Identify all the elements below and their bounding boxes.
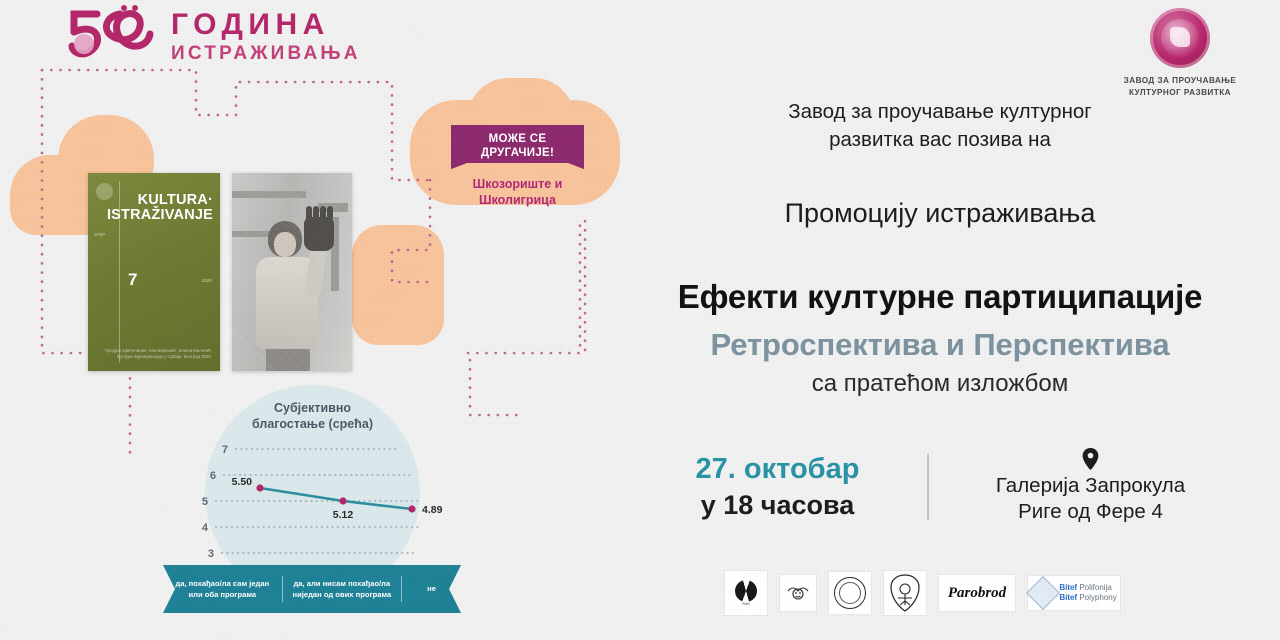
event-title-main: Ефекти културне партиципације xyxy=(600,278,1280,316)
event-datetime: 27. октобар у 18 часова xyxy=(650,453,905,521)
badge-subtitle-line-2: Школигрица xyxy=(450,192,585,208)
circular-seal-icon xyxy=(834,577,866,609)
bitef-diamond-icon xyxy=(1026,576,1060,610)
venue-address: Риге од Фере 4 xyxy=(951,499,1230,525)
infographic-panel: ЗПКР KULTURA· ISTRAŽIVANJE 7 2020 Предра… xyxy=(0,60,620,640)
banner-cell-1: да, похађао/ла сам један или оба програм… xyxy=(163,578,282,601)
book-issue-number: 7 xyxy=(128,270,137,290)
banner-cell-2: да, али нисам похађао/ла ниједан од ових… xyxy=(283,578,402,601)
event-type: Промоцију истраживања xyxy=(600,198,1280,229)
event-poster: ГОДИНА ИСТРАЖИВАЊА ЗАВОД ЗА ПРОУЧАВАЊЕ К… xyxy=(0,0,1280,640)
partner-logo-parobrod: Parobrod xyxy=(938,574,1016,612)
invitation-line-1: Завод за проучавање културног xyxy=(600,98,1280,126)
partner-logo-1: Bitef xyxy=(724,570,768,616)
bitef-line-2-word: Polyphony xyxy=(1079,593,1116,602)
promo-badge: МОЖЕ СЕ ДРУГАЧИЈЕ! Шкозориште и Школигри… xyxy=(450,125,585,209)
swirl-icon xyxy=(735,580,757,602)
badge-subtitle-line-1: Шкозориште и xyxy=(450,176,585,192)
institute-crest-icon xyxy=(1150,8,1210,68)
winged-face-icon xyxy=(785,583,811,603)
anniversary-line-2: ИСТРАЖИВАЊА xyxy=(171,44,361,63)
event-title-sub: Ретроспектива и Перспектива xyxy=(600,327,1280,363)
invitation-line-2: развитка вас позива на xyxy=(600,126,1280,154)
badge-ribbon: МОЖЕ СЕ ДРУГАЧИЈЕ! xyxy=(451,125,584,169)
bitef-polifonija-label: Bitef Polifonija Bitef Polyphony xyxy=(1059,583,1116,603)
partner-logo-1-caption: Bitef xyxy=(742,602,749,607)
badge-ribbon-line-1: МОЖЕ СЕ xyxy=(455,133,580,147)
svg-text:4.89: 4.89 xyxy=(422,504,443,516)
invitation-text: Завод за проучавање културног развитка в… xyxy=(600,98,1280,153)
svg-text:3: 3 xyxy=(208,548,214,560)
book-title: KULTURA· ISTRAŽIVANJE xyxy=(107,193,213,223)
event-date: 27. октобар xyxy=(650,453,905,486)
bitef-line-2-brand: Bitef xyxy=(1059,593,1077,602)
institute-seal-line-1: ЗАВОД ЗА ПРОУЧАВАЊЕ xyxy=(1104,75,1256,87)
svg-text:5.50: 5.50 xyxy=(232,476,253,488)
anniversary-line-1: ГОДИНА xyxy=(171,10,361,40)
child-photo-image xyxy=(232,173,352,371)
event-title-note: са пратећом изложбом xyxy=(600,370,1280,398)
book-footnote: Предраг Цветичанин, Ана Бирешев, Јелена … xyxy=(98,348,212,361)
parobrod-label: Parobrod xyxy=(948,585,1006,602)
book-year: 2020 xyxy=(202,278,212,283)
institute-seal-text: ЗАВОД ЗА ПРОУЧАВАЊЕ КУЛТУРНОГ РАЗВИТКА xyxy=(1104,75,1256,99)
chart-category-banner: да, похађао/ла сам један или оба програм… xyxy=(163,565,461,613)
svg-text:6: 6 xyxy=(210,470,216,482)
bitef-line-1-word: Polifonija xyxy=(1079,583,1111,592)
institute-seal-logo: ЗАВОД ЗА ПРОУЧАВАЊЕ КУЛТУРНОГ РАЗВИТКА xyxy=(1104,8,1256,99)
partner-logo-bitef-polifonija: Bitef Polifonija Bitef Polyphony xyxy=(1027,575,1121,611)
partner-logo-2 xyxy=(779,574,817,612)
partner-logos: Bitef Parobrod Bitef xyxy=(724,570,1121,616)
anniversary-logo: ГОДИНА ИСТРАЖИВАЊА xyxy=(62,4,361,66)
institute-seal-line-2: КУЛТУРНОГ РАЗВИТКА xyxy=(1104,87,1256,99)
book-title-line-1: KULTURA· xyxy=(107,193,213,208)
svg-text:5.12: 5.12 xyxy=(333,509,354,521)
anniversary-text: ГОДИНА ИСТРАЖИВАЊА xyxy=(171,7,361,63)
svg-text:5: 5 xyxy=(202,496,208,508)
badge-ribbon-line-2: ДРУГАЧИЈЕ! xyxy=(455,147,580,161)
details-divider xyxy=(927,454,929,520)
bitef-line-1-brand: Bitef xyxy=(1059,583,1077,592)
badge-subtitle: Шкозориште и Школигрица xyxy=(450,176,585,209)
partner-logo-3 xyxy=(828,571,872,615)
partner-logo-4 xyxy=(883,570,927,616)
event-details: 27. октобар у 18 часова Галерија Запроку… xyxy=(650,448,1230,525)
anniversary-number-50-icon xyxy=(62,4,158,66)
event-time: у 18 часова xyxy=(650,490,905,521)
venue-name: Галерија Запрокула xyxy=(951,473,1230,499)
book-spine-text: ЗПКР xyxy=(94,231,116,238)
book-cover-image: ЗПКР KULTURA· ISTRAŽIVANJE 7 2020 Предра… xyxy=(88,173,220,371)
event-location: Галерија Запрокула Риге од Фере 4 xyxy=(951,448,1230,525)
crest-figure-icon xyxy=(889,574,921,612)
svg-text:4: 4 xyxy=(202,522,209,534)
svg-text:7: 7 xyxy=(222,444,228,456)
map-pin-icon xyxy=(1082,448,1099,470)
book-title-line-2: ISTRAŽIVANJE xyxy=(107,208,213,223)
